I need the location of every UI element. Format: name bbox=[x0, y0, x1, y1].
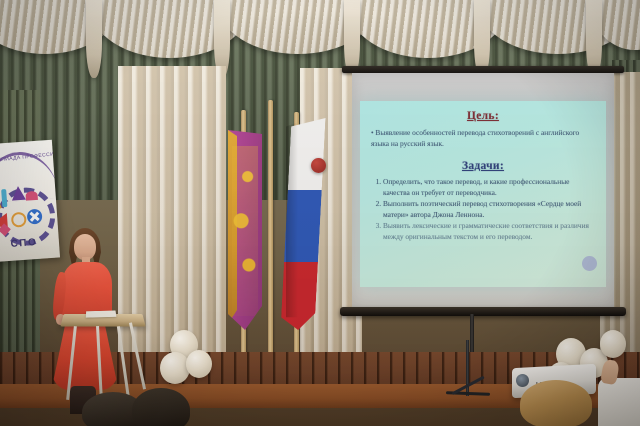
projection-screen: Цель: • Выявление особенностей перевода … bbox=[352, 66, 614, 318]
event-banner: ОЛИМПИАДА ПРОФЕССИОНАЛЬНОГО МАСТЕРСТВА С… bbox=[0, 140, 60, 263]
slide-task-item: Выполнить поэтический перевод стихотворе… bbox=[383, 199, 597, 220]
ruler-icon bbox=[1, 189, 7, 207]
slide-task-list: Определить, что такое перевод, и какие п… bbox=[369, 177, 597, 242]
diamond-icon bbox=[0, 223, 11, 236]
banner-icon-cluster bbox=[0, 184, 55, 240]
screen-top-bar bbox=[342, 66, 624, 73]
presentation-photo: Цель: • Выявление особенностей перевода … bbox=[0, 0, 640, 426]
slide-task-item: Определить, что такое перевод, и какие п… bbox=[383, 177, 597, 198]
flag-pole bbox=[268, 100, 273, 386]
balloon bbox=[600, 330, 626, 358]
presentation-slide: Цель: • Выявление особенностей перевода … bbox=[360, 101, 606, 287]
screen-bottom-bar bbox=[340, 307, 626, 316]
audience-person-white-shirt bbox=[598, 378, 640, 426]
lectern-papers bbox=[86, 311, 117, 318]
audience-head bbox=[132, 388, 190, 426]
compass-icon bbox=[27, 209, 43, 225]
russian-flag-fold bbox=[286, 118, 298, 330]
triangle-icon bbox=[11, 186, 26, 201]
circle-icon bbox=[11, 212, 27, 228]
slide-decoration-circle bbox=[582, 256, 597, 271]
microphone-stand bbox=[466, 340, 469, 396]
slide-heading-tasks: Задачи: bbox=[369, 160, 597, 172]
regional-flag bbox=[228, 130, 262, 330]
slide-heading-goal: Цель: bbox=[369, 110, 597, 122]
balloon bbox=[186, 350, 212, 378]
audience-head bbox=[520, 380, 592, 426]
screen-surface: Цель: • Выявление особенностей перевода … bbox=[352, 73, 614, 307]
projector-lens bbox=[516, 374, 529, 387]
balloon bbox=[160, 352, 190, 384]
palette-icon bbox=[25, 191, 38, 201]
slide-goal-bullet: • Выявление особенностей перевода стихот… bbox=[371, 128, 597, 149]
flag-finial-knob bbox=[311, 158, 326, 173]
flag-gold-emblem bbox=[232, 146, 258, 316]
slide-task-item: Выявить лексические и грамматические соо… bbox=[383, 221, 597, 242]
